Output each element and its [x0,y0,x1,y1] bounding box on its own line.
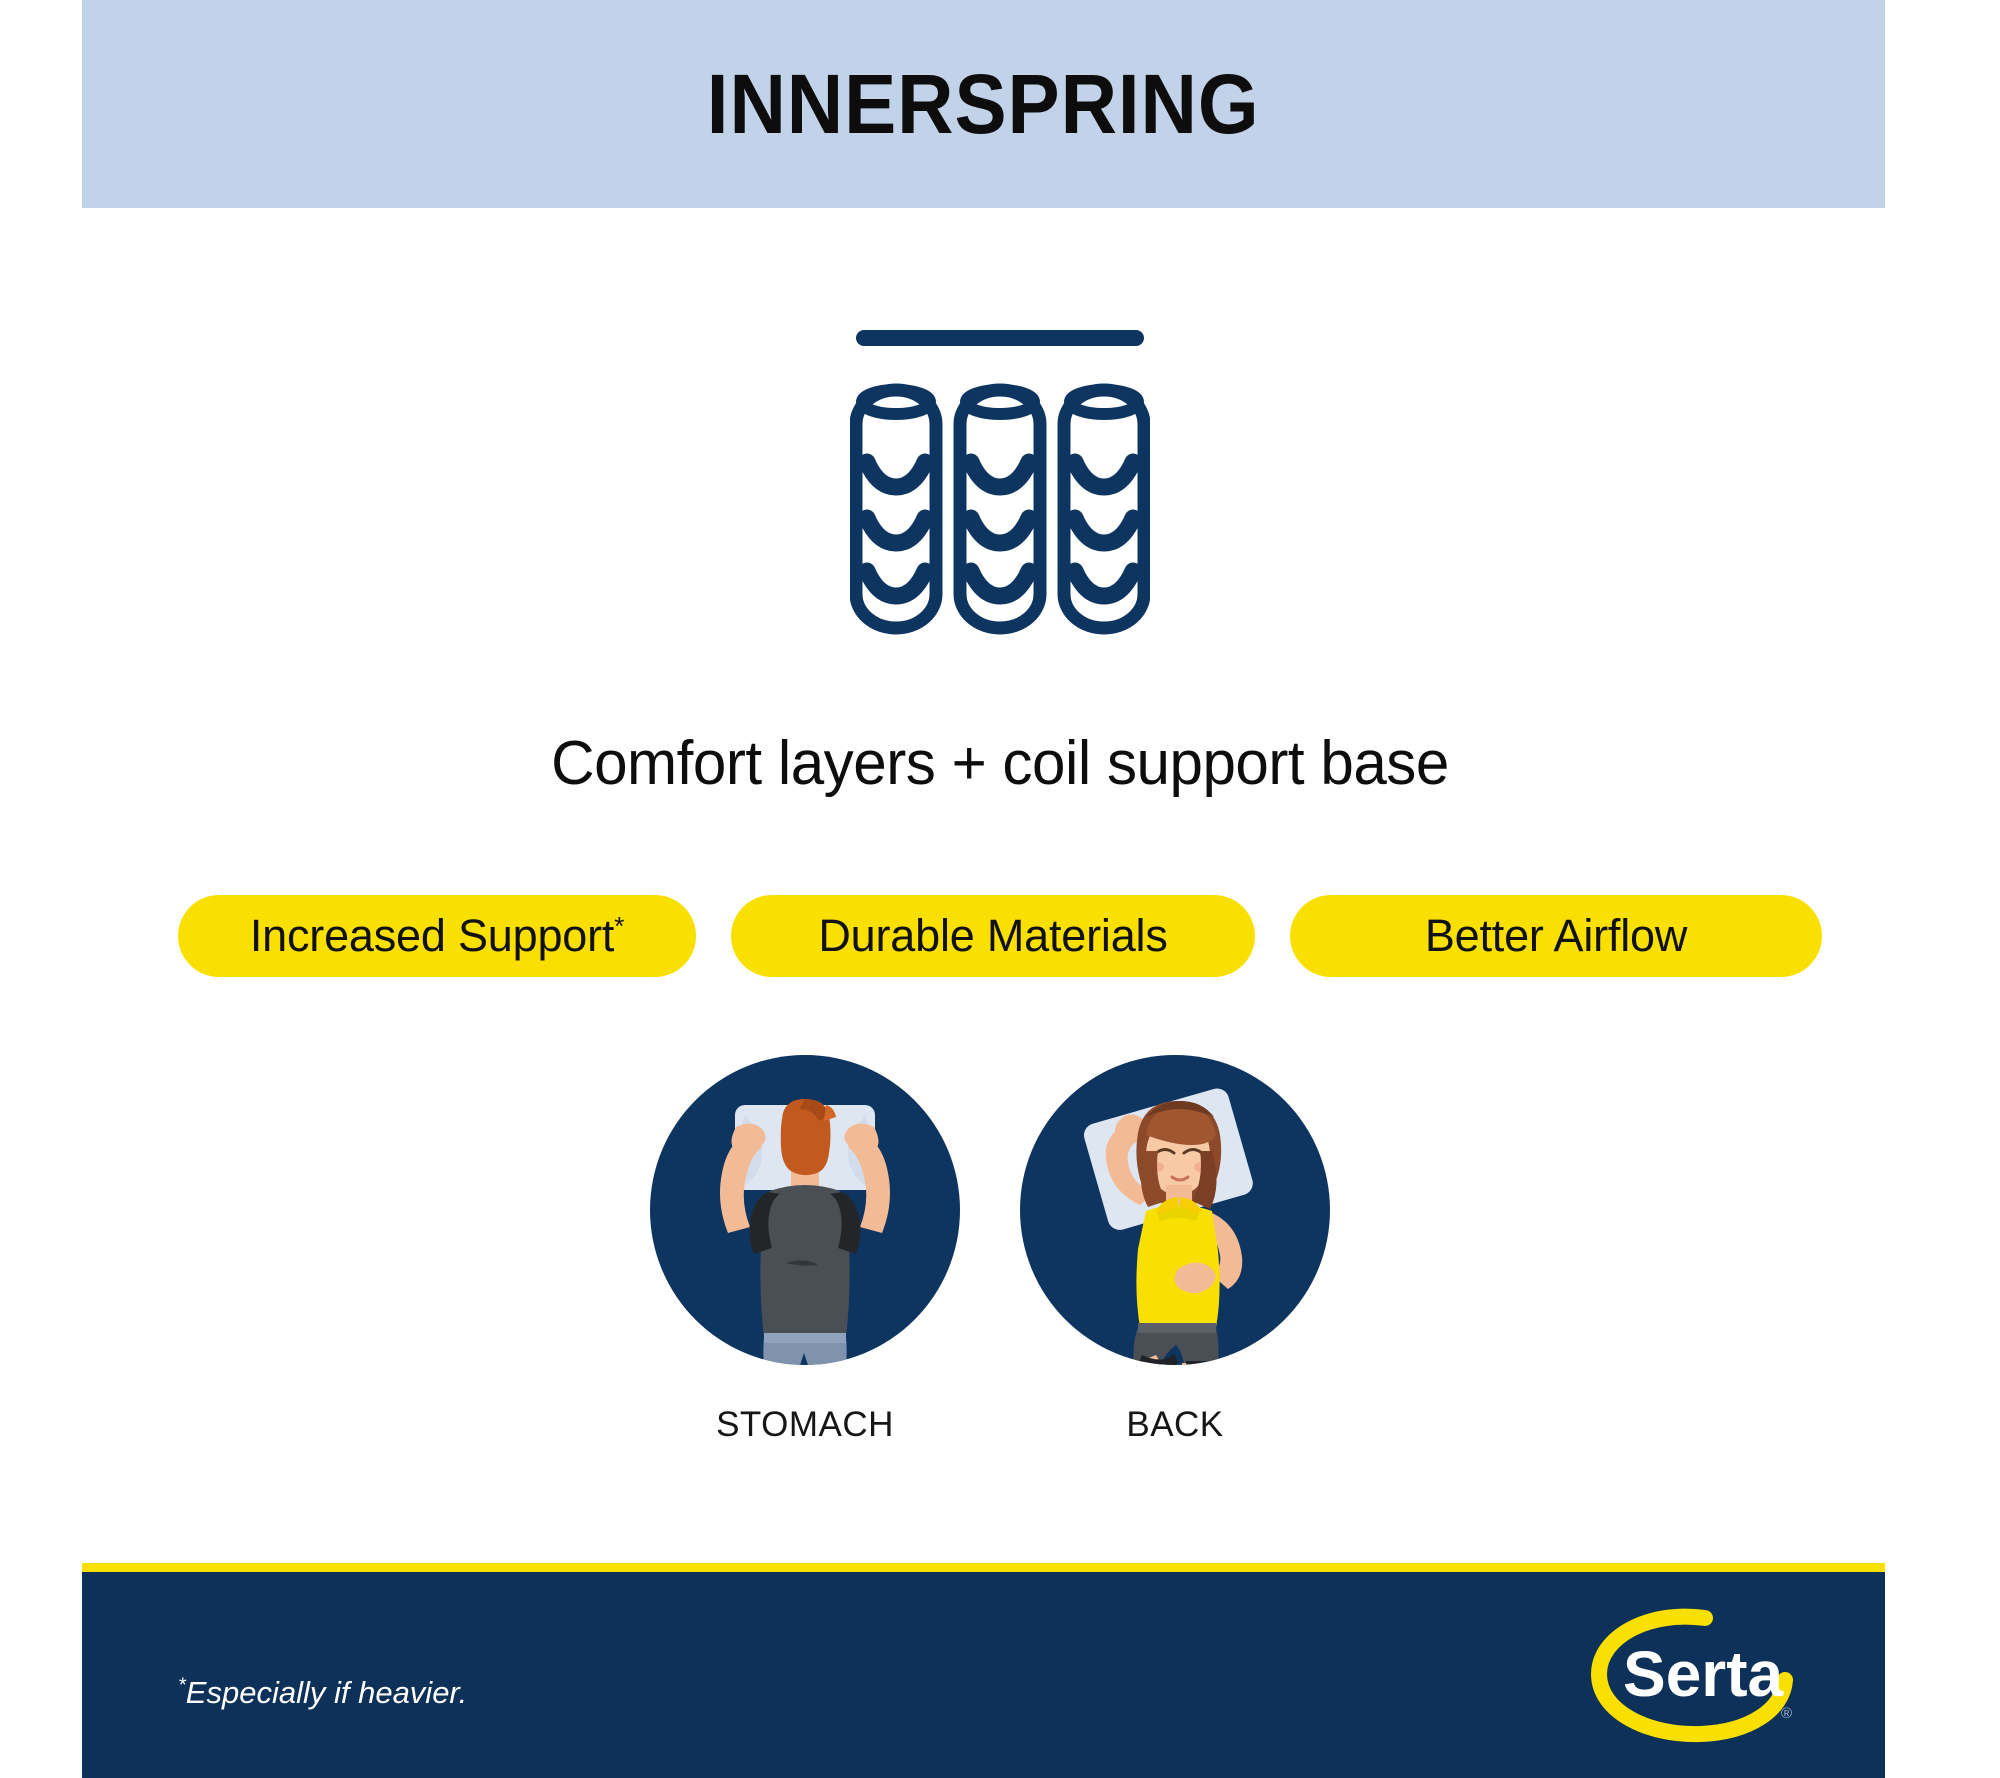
sleep-position-back: BACK [1020,1055,1330,1445]
stomach-sleeper-illustration [650,1055,960,1365]
header-banner: INNERSPRING [82,0,1885,208]
feature-pill-label: Increased Support* [250,910,624,962]
sleep-position-stomach: STOMACH [650,1055,960,1445]
serta-wordmark: Serta [1623,1638,1784,1710]
feature-pill-label: Durable Materials [818,910,1167,962]
feature-pill-label: Better Airflow [1425,910,1687,962]
footnote-label: Especially if heavier. [186,1675,467,1710]
feature-pill-row: Increased Support* Durable Materials Bet… [178,895,1822,977]
feature-pill-better-airflow[interactable]: Better Airflow [1290,895,1822,977]
feature-pill-durable-materials[interactable]: Durable Materials [731,895,1255,977]
sleep-position-label-stomach: STOMACH [716,1405,894,1445]
coil-springs-icon [850,322,1150,640]
subtitle-text: Comfort layers + coil support base [30,728,1970,799]
back-sleeper-figure [1020,1055,1330,1365]
feature-pill-text: Increased Support [250,910,614,961]
registered-mark-icon: ® [1781,1705,1792,1722]
footnote-asterisk-icon: * [178,1675,186,1697]
serta-logo[interactable]: Serta ® [1585,1600,1815,1750]
footnote-marker-icon: * [614,911,624,941]
page-title: INNERSPRING [707,56,1260,153]
sleep-positions-row: STOMACH [650,1055,1330,1445]
sleep-position-label-back: BACK [1126,1405,1223,1445]
coil-icon-container [0,322,2000,640]
back-sleeper-illustration [1020,1055,1330,1365]
stomach-sleeper-figure [650,1055,960,1365]
feature-pill-text: Better Airflow [1425,910,1687,961]
feature-pill-text: Durable Materials [818,910,1167,961]
infographic-page: INNERSPRING [0,0,2000,1778]
footer-bar: *Especially if heavier. Serta ® [82,1563,1885,1778]
feature-pill-increased-support[interactable]: Increased Support* [178,895,696,977]
footnote-text: *Especially if heavier. [178,1675,467,1711]
